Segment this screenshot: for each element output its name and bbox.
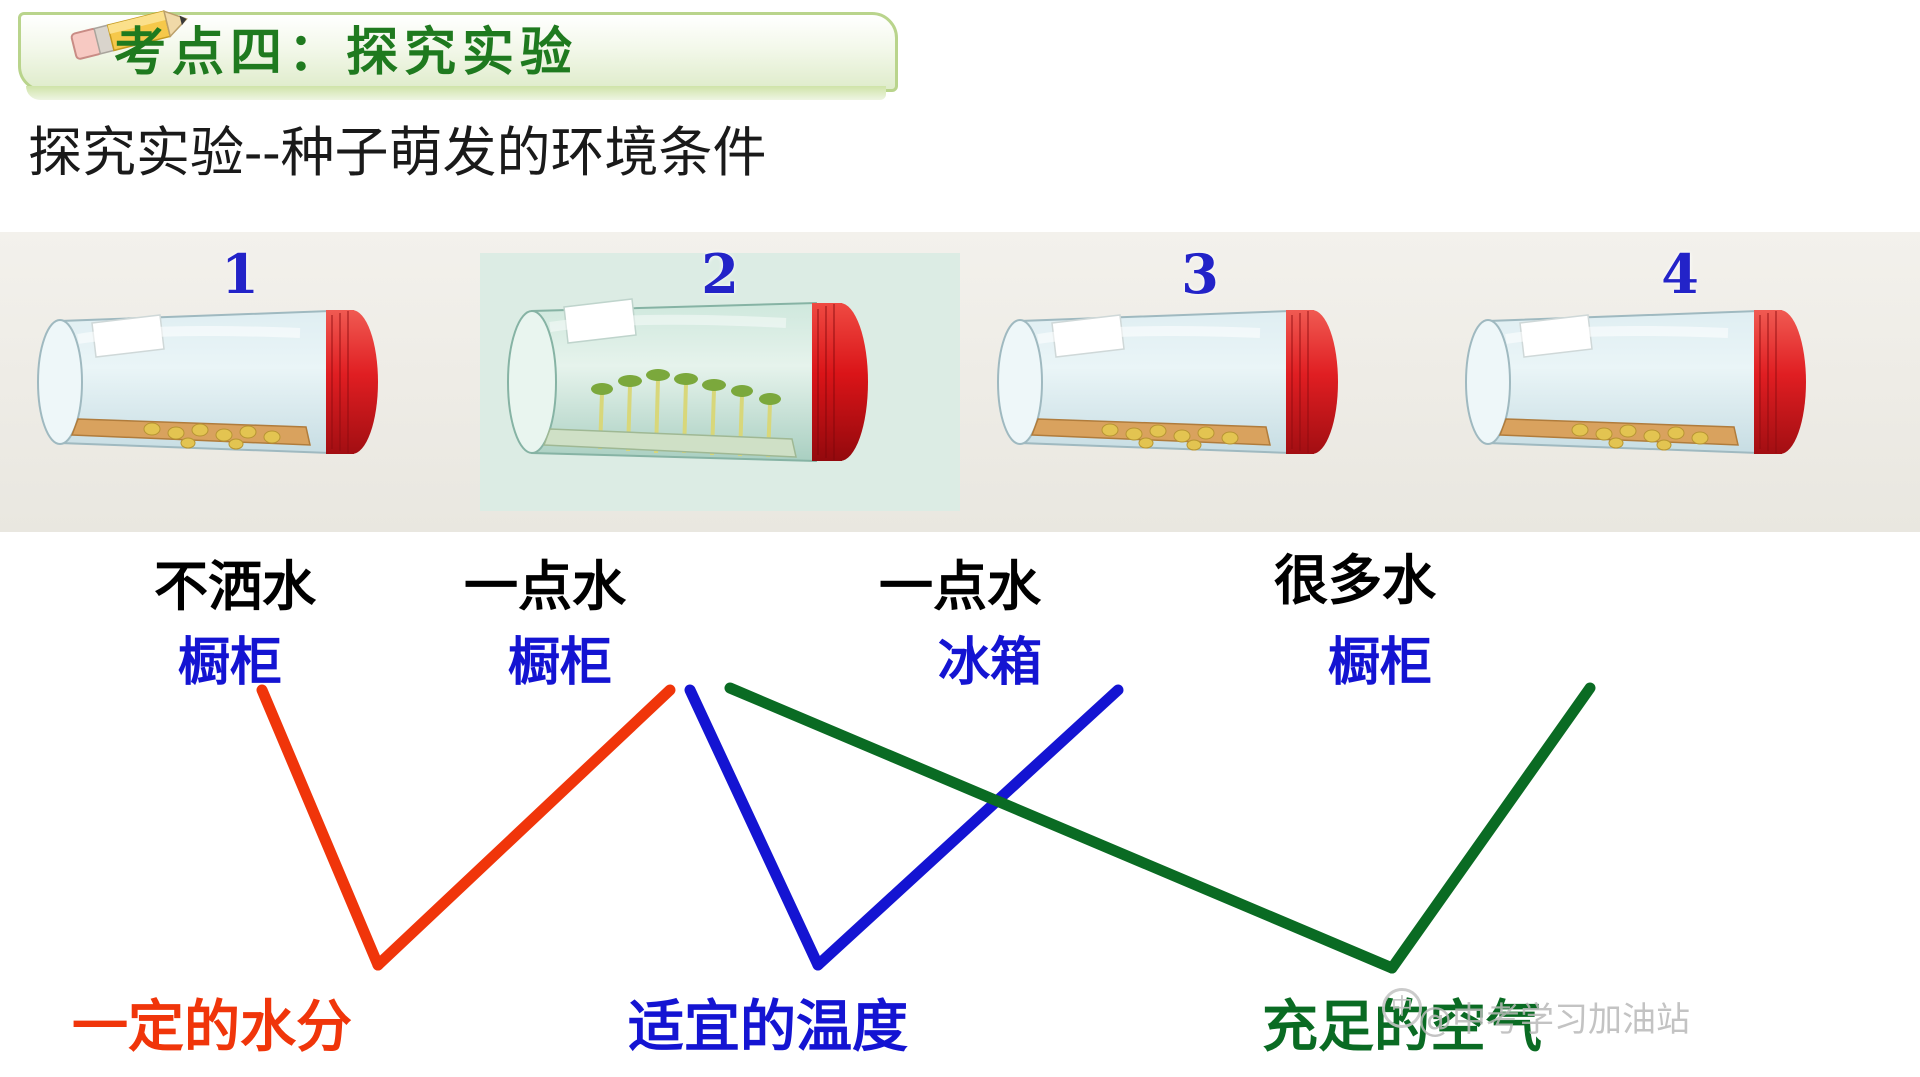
jar-image-1: 1: [0, 232, 480, 532]
jar-image-3: 3: [960, 232, 1440, 532]
line-group-water: [262, 690, 670, 965]
line-group-temperature: [690, 690, 1118, 965]
conclusion-water: 一定的水分: [72, 982, 352, 1063]
watermark-logo: 中: [1382, 988, 1422, 1028]
place-label-4: 橱柜: [1290, 620, 1470, 695]
jar-number-1: 1: [221, 242, 259, 306]
water-label-2: 一点水: [420, 542, 670, 621]
experiment-photo-strip: 1: [0, 232, 1920, 532]
place-label-3: 冰箱: [900, 620, 1080, 695]
place-label-2: 橱柜: [470, 620, 650, 695]
watermark-text: @中考学习加油站: [1418, 992, 1690, 1041]
water-label-4: 很多水: [1230, 536, 1480, 615]
title-banner: 考点四：探究实验: [18, 6, 898, 98]
subtitle: 探究实验--种子萌发的环境条件: [28, 108, 767, 187]
jar-image-4: 4: [1440, 232, 1920, 532]
jar-number-2: 2: [701, 242, 739, 306]
water-label-3: 一点水: [835, 542, 1085, 621]
jar-number-3: 3: [1181, 242, 1219, 306]
jar-number-4: 4: [1661, 242, 1699, 306]
jar-image-2: 2: [480, 232, 960, 532]
conclusion-temperature: 适宜的温度: [628, 982, 908, 1063]
banner-underline: [26, 86, 886, 100]
line-group-air: [730, 688, 1590, 968]
place-label-1: 橱柜: [140, 620, 320, 695]
water-label-1: 不洒水: [110, 542, 360, 621]
page-title: 考点四：探究实验: [114, 20, 874, 86]
